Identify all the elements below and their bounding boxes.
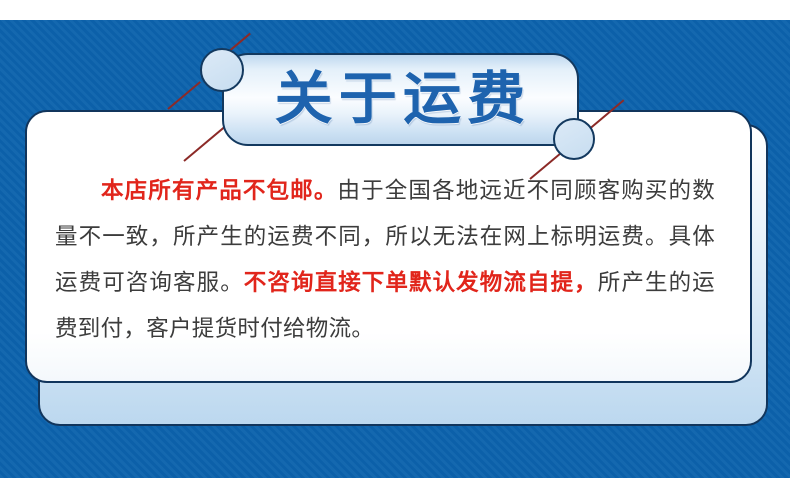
- circle-decoration-icon: [553, 118, 595, 160]
- paragraph-segment-2: 不咨询直接下单默认发物流自提，: [244, 270, 598, 296]
- page-title: 关于运费: [270, 71, 531, 128]
- shipping-info-banner: 关于运费 本店所有产品不包邮。由于全国各地远近不同顾客购买的数量不一致，所产生的…: [0, 0, 790, 498]
- paragraph-segment-0: 本店所有产品不包邮。: [101, 178, 337, 204]
- circle-decoration-icon: [200, 48, 244, 92]
- section-title-banner: 关于运费: [222, 53, 579, 146]
- shipping-policy-paragraph: 本店所有产品不包邮。由于全国各地远近不同顾客购买的数量不一致，所产生的运费不同，…: [55, 168, 715, 352]
